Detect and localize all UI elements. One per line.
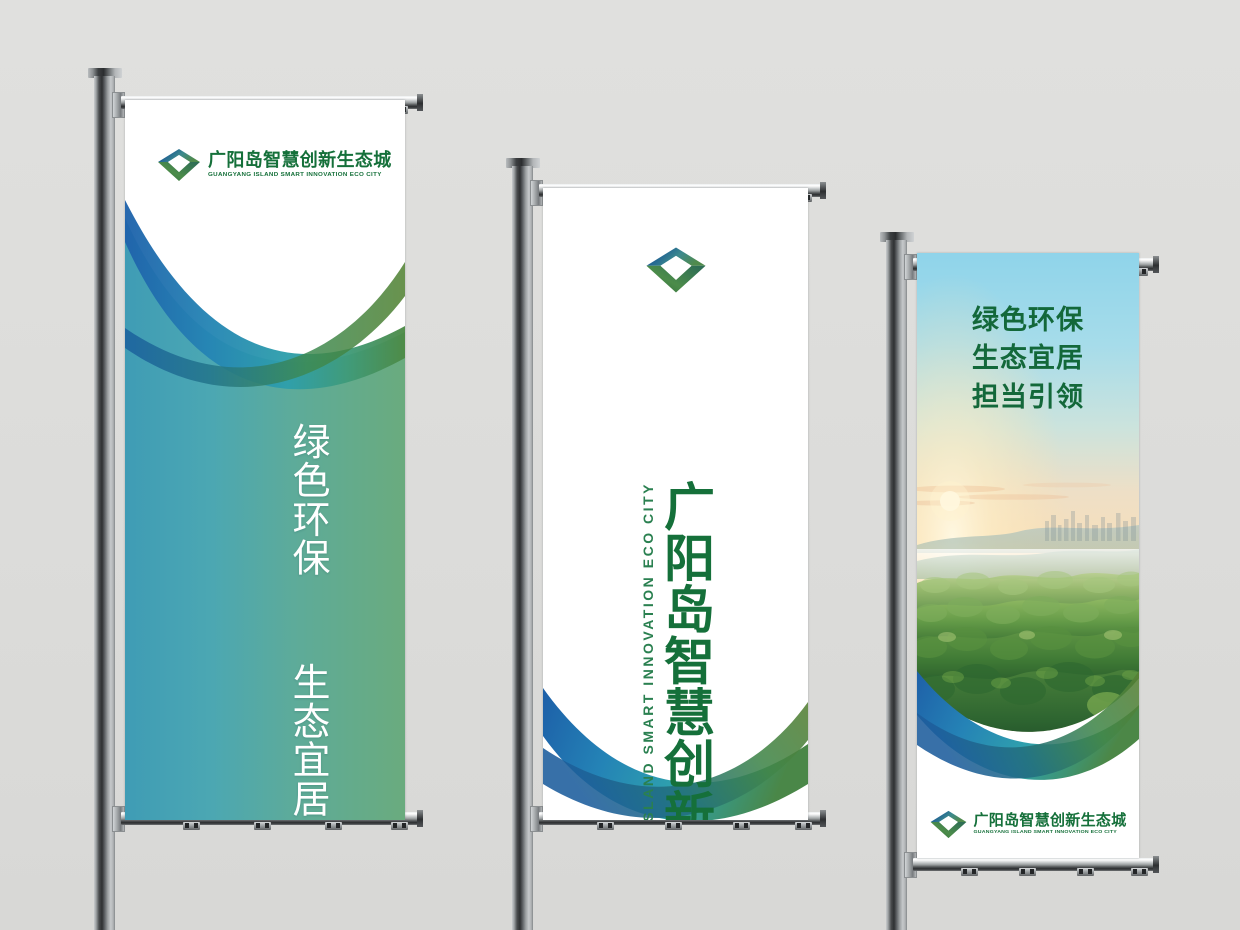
- metallic-flag-pole: [886, 240, 907, 930]
- diamond-rhombus-logo-icon: [645, 246, 707, 294]
- scene-background: 广阳岛智慧创新生态城 GUANGYANG ISLAND SMART INNOVA…: [0, 0, 1240, 930]
- crossbar-clamp: [795, 822, 812, 830]
- metallic-flag-pole: [94, 76, 115, 930]
- logo-text-cn: 广阳岛智慧创新生态城: [208, 151, 392, 169]
- banner-one-slogan: 绿色环保 生态宜居 担当引领: [282, 422, 331, 820]
- banner-three[interactable]: 绿色环保 生态宜居 担当引领: [917, 253, 1139, 858]
- banner-two-wordmark: GUANGYANG ISLAND SMART INNOVATION ECO CI…: [640, 480, 710, 820]
- crossbar-end-cap: [1153, 256, 1159, 273]
- logo-mark-wrapper: [645, 246, 707, 294]
- crossbar-clamp: [961, 868, 978, 876]
- crossbar-clamp: [254, 822, 271, 830]
- banner-one-artwork: [125, 100, 405, 820]
- crossbar-end-cap: [820, 182, 826, 199]
- crossbar-end-cap: [1153, 856, 1159, 873]
- logo-text-cn: 广阳岛智慧创新生态城: [973, 813, 1126, 828]
- diamond-rhombus-logo-icon: [929, 810, 967, 839]
- banner-two[interactable]: GUANGYANG ISLAND SMART INNOVATION ECO CI…: [543, 188, 808, 820]
- crossbar-clamp: [665, 822, 682, 830]
- crossbar-clamp: [183, 822, 200, 830]
- banner-three-slogan: 绿色环保 生态宜居 担当引领: [917, 301, 1139, 416]
- crossbar-clamp: [1019, 868, 1036, 876]
- logo-text-en: GUANGYANG ISLAND SMART INNOVATION ECO CI…: [208, 173, 392, 179]
- crossbar-clamp: [733, 822, 750, 830]
- crossbar-clamp: [1131, 868, 1148, 876]
- logo-lockup: 广阳岛智慧创新生态城 GUANGYANG ISLAND SMART INNOVA…: [157, 148, 392, 182]
- diamond-rhombus-logo-icon: [157, 148, 201, 182]
- crossbar-clamp: [1077, 868, 1094, 876]
- logo-lockup: 广阳岛智慧创新生态城 GUANGYANG ISLAND SMART INNOVA…: [929, 810, 1126, 839]
- crossbar-end-cap: [820, 810, 826, 827]
- banner-one[interactable]: 广阳岛智慧创新生态城 GUANGYANG ISLAND SMART INNOVA…: [125, 100, 405, 820]
- horizontal-crossbar-bottom: [913, 858, 1156, 871]
- wordmark-text-cn: 广阳岛智慧创新生态城: [658, 480, 710, 820]
- crossbar-end-cap: [417, 94, 423, 111]
- crossbar-end-cap: [417, 810, 423, 827]
- crossbar-clamp: [597, 822, 614, 830]
- wordmark-text-en: GUANGYANG ISLAND SMART INNOVATION ECO CI…: [640, 482, 654, 820]
- crossbar-clamp: [325, 822, 342, 830]
- logo-text-en: GUANGYANG ISLAND SMART INNOVATION ECO CI…: [973, 831, 1126, 836]
- crossbar-clamp: [391, 822, 408, 830]
